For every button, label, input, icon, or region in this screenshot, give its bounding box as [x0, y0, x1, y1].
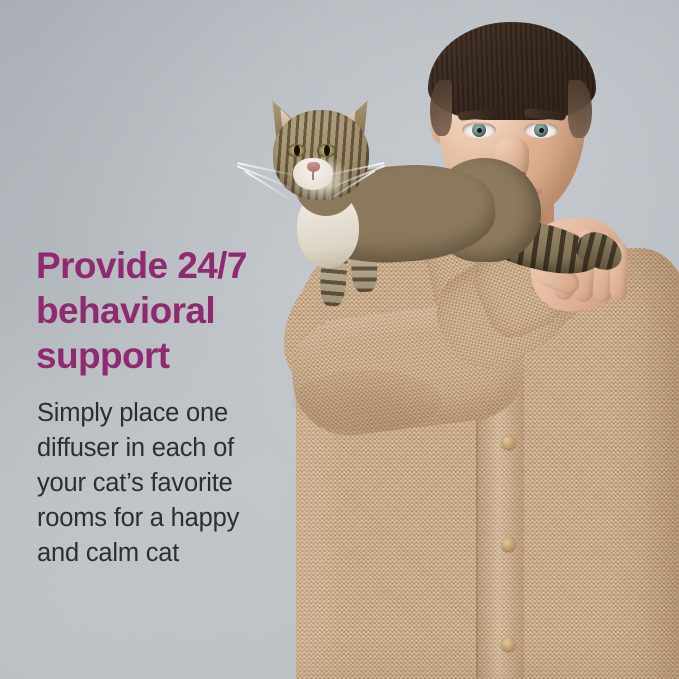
headline-line-2: behavioral — [36, 288, 356, 333]
body-copy-line-3: your cat’s favorite — [37, 466, 307, 501]
body-copy-line-1: Simply place one — [37, 396, 307, 431]
cat-eye-left — [287, 144, 306, 157]
cat-pupil-left — [294, 145, 300, 156]
body-copy-line-2: diffuser in each of — [37, 431, 307, 466]
shirt-button — [502, 538, 515, 551]
cat-nose — [307, 162, 320, 172]
cat-eye-right — [317, 144, 336, 157]
shirt-button — [502, 638, 515, 651]
body-copy-line-4: rooms for a happy — [37, 501, 307, 536]
elbow-shadow — [292, 370, 442, 432]
cat-mouth — [312, 172, 314, 180]
headline: Provide 24/7 behavioral support — [36, 243, 356, 378]
shirt-button — [502, 436, 515, 449]
marketing-banner: Provide 24/7 behavioral support Simply p… — [0, 0, 679, 679]
body-copy: Simply place one diffuser in each of you… — [37, 396, 307, 571]
headline-line-3: support — [36, 333, 356, 378]
cat-pupil-right — [324, 145, 330, 156]
body-copy-line-5: and calm cat — [37, 536, 307, 571]
headline-line-1: Provide 24/7 — [36, 243, 356, 288]
